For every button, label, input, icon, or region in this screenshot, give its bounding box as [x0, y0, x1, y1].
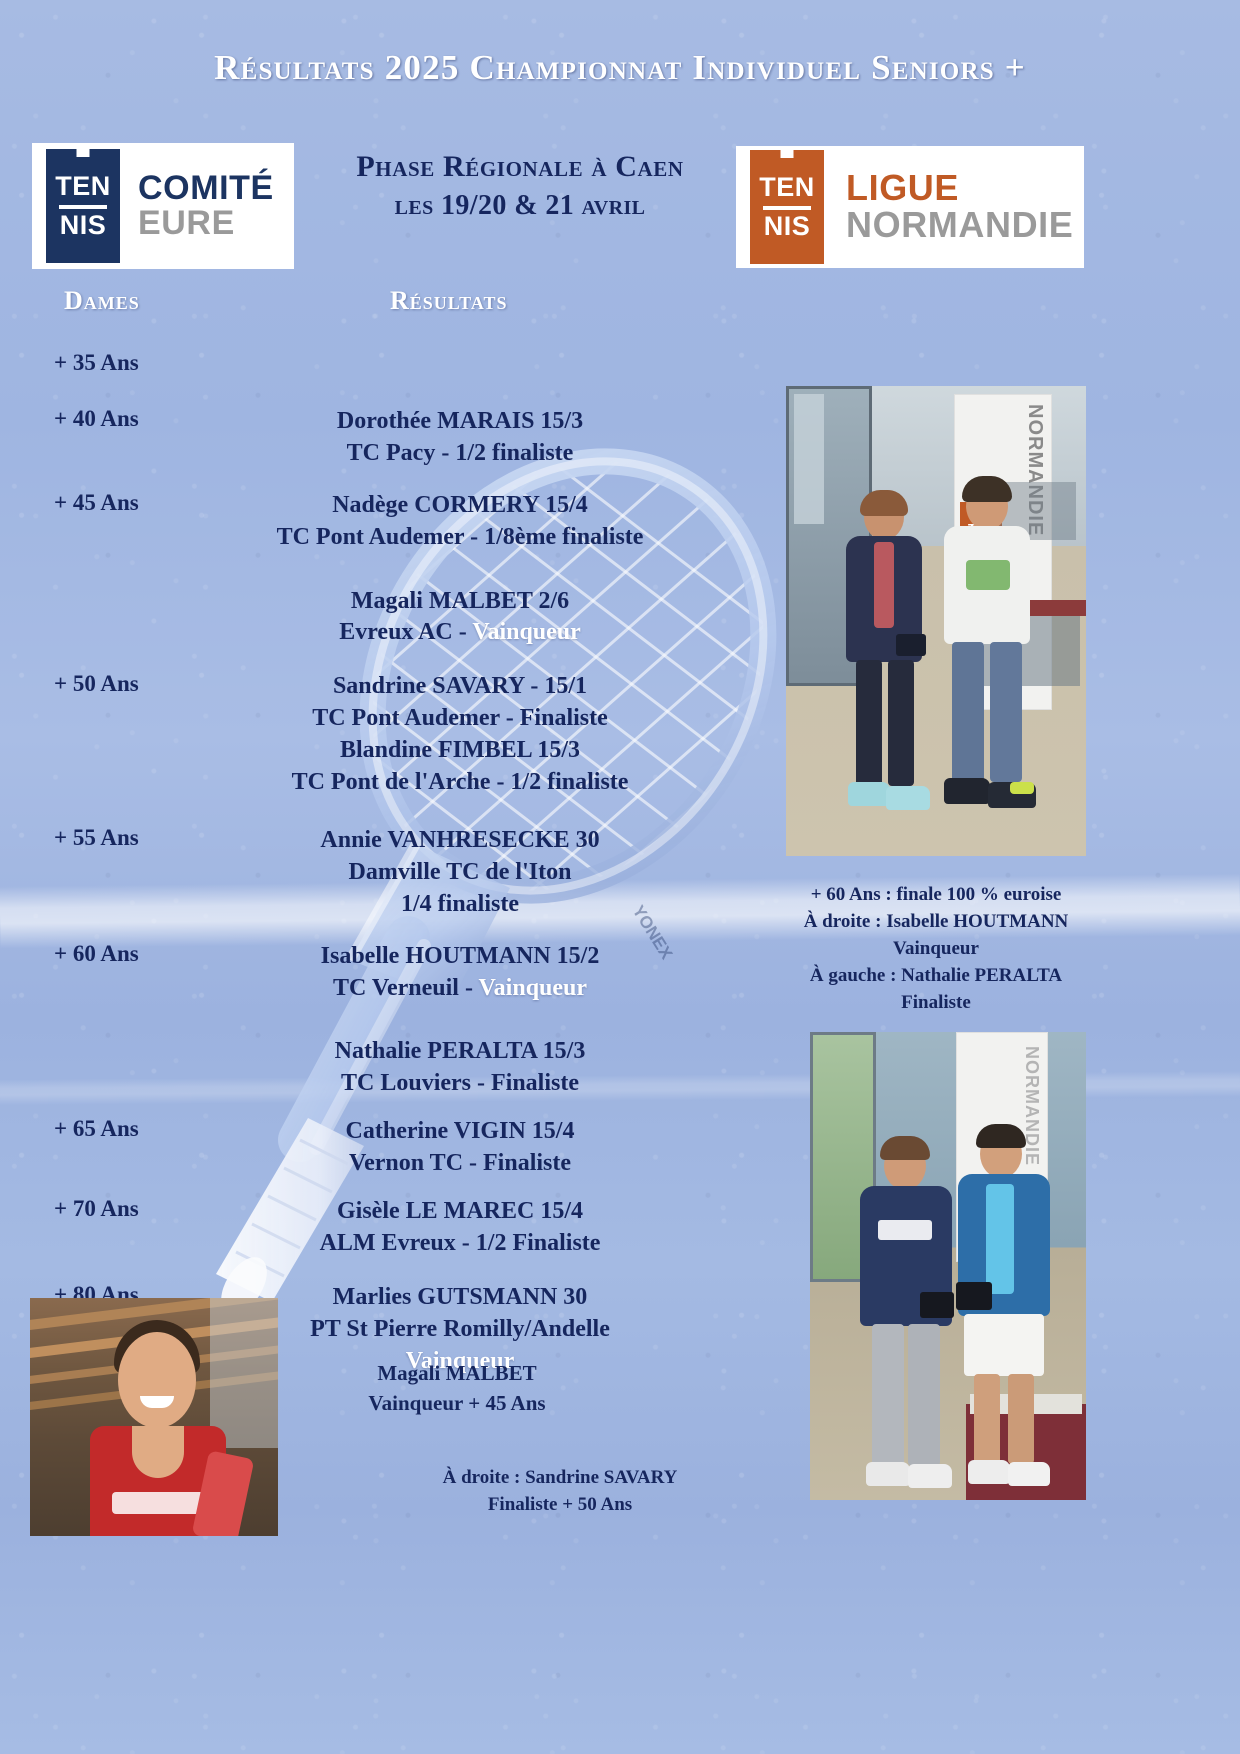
results-empty-line	[210, 350, 710, 382]
tennis-federation-mark-icon: TEN NIS	[750, 150, 824, 264]
photo-finale-50-ans: NORMANDIE	[810, 1032, 1086, 1500]
results-age-category: + 70 Ans	[54, 1196, 139, 1222]
results-entry-line: TC Pacy - 1/2 finaliste	[210, 438, 710, 470]
results-entry-line: Magali MALBET 2/6	[210, 586, 710, 618]
caption-line: + 60 Ans : finale 100 % euroise	[760, 882, 1112, 909]
logo-comite-line2: EURE	[138, 206, 274, 241]
results-entries: Isabelle HOUTMANN 15/2TC Verneuil - Vain…	[210, 941, 710, 1101]
poster-canvas: YONEX Résultats 2025 Championnat Individ…	[0, 0, 1240, 1754]
person-jeans-left	[952, 642, 984, 782]
results-entry-line: Vernon TC - Finaliste	[210, 1148, 710, 1180]
column-header-resultats: Résultats	[390, 286, 508, 316]
person-shoe-right	[908, 1464, 952, 1488]
photo-person-left	[854, 1142, 958, 1500]
results-entry-line: Isabelle HOUTMANN 15/2	[210, 941, 710, 973]
caption-line: Vainqueur + 45 Ans	[222, 1388, 692, 1418]
tennis-federation-mark-icon: TEN NIS	[46, 149, 120, 263]
person-shoe-left	[848, 782, 890, 806]
caption-line: Finaliste	[760, 990, 1112, 1017]
person-legs-right	[1008, 1374, 1034, 1464]
photo-person-left	[838, 494, 930, 834]
results-row: + 35 Ans	[0, 350, 760, 384]
results-age-category: + 55 Ans	[54, 825, 139, 851]
results-entry-line: TC Pont Audemer - Finaliste	[210, 703, 710, 735]
results-entries: Nadège CORMERY 15/4TC Pont Audemer - 1/8…	[210, 490, 710, 650]
logo-ligue-wordmark: LIGUE NORMANDIE	[846, 170, 1073, 243]
person-shoe-left	[968, 1460, 1010, 1484]
mark-rule	[763, 206, 811, 210]
results-age-category: + 35 Ans	[54, 350, 139, 376]
results-entry-line: TC Pont Audemer - 1/8ème finaliste	[210, 522, 710, 554]
results-spacer-line	[210, 1005, 710, 1037]
results-entries: Dorothée MARAIS 15/3TC Pacy - 1/2 finali…	[210, 406, 710, 470]
mark-top-text: TEN	[55, 174, 111, 200]
results-entry-line: PT St Pierre Romilly/Andelle	[210, 1314, 710, 1346]
person-trophy	[956, 1282, 992, 1310]
results-entry-line: Evreux AC - Vainqueur	[210, 617, 710, 649]
mark-top-text: TEN	[759, 175, 815, 201]
results-row: + 45 AnsNadège CORMERY 15/4TC Pont Audem…	[0, 490, 760, 650]
caption-sandrine-savary: À droite : Sandrine SAVARYFinaliste + 50…	[330, 1465, 790, 1519]
caption-line: À gauche : Nathalie PERALTA	[760, 963, 1112, 990]
results-row: + 70 AnsGisèle LE MAREC 15/4ALM Evreux -…	[0, 1196, 760, 1260]
column-header-dames: Dames	[64, 286, 140, 316]
results-entries	[210, 350, 710, 382]
person-trousers-left	[872, 1324, 904, 1466]
results-entry-line: Damville TC de l'Iton	[210, 857, 710, 889]
results-spacer-line	[210, 554, 710, 586]
caption-line: À droite : Isabelle HOUTMANN	[760, 909, 1112, 936]
photo-person-right	[936, 482, 1036, 838]
logo-ligue-normandie: TEN NIS LIGUE NORMANDIE	[736, 146, 1084, 268]
logo-comite-wordmark: COMITÉ EURE	[138, 171, 274, 240]
shoe-accent	[1010, 782, 1034, 794]
poster-title-bar: Résultats 2025 Championnat Individuel Se…	[0, 48, 1240, 88]
results-entry-line: Catherine VIGIN 15/4	[210, 1116, 710, 1148]
person-scarf	[874, 542, 894, 628]
mark-rule	[59, 205, 107, 209]
mark-notch	[77, 148, 90, 157]
results-list: + 35 Ans + 40 AnsDorothée MARAIS 15/3TC …	[0, 350, 760, 1378]
caption-final-60-ans: + 60 Ans : finale 100 % euroiseÀ droite …	[760, 882, 1112, 1017]
caption-line: Magali MALBET	[222, 1358, 692, 1388]
results-row: + 40 AnsDorothée MARAIS 15/3TC Pacy - 1/…	[0, 406, 760, 470]
person-trousers-right	[908, 1324, 940, 1466]
mark-bottom-text: NIS	[764, 214, 811, 240]
logo-comite-line1: COMITÉ	[138, 171, 274, 206]
page-title: Résultats 2025 Championnat Individuel Se…	[214, 48, 1026, 88]
person-legs-right	[888, 660, 914, 786]
results-entry-line: Gisèle LE MAREC 15/4	[210, 1196, 710, 1228]
caption-magali-malbet: Magali MALBETVainqueur + 45 Ans	[222, 1358, 692, 1419]
phase-heading-line1: Phase Régionale à Caen	[300, 148, 740, 186]
results-row: + 60 AnsIsabelle HOUTMANN 15/2TC Verneui…	[0, 941, 760, 1101]
results-entry-line: Nadège CORMERY 15/4	[210, 490, 710, 522]
caption-line: Vainqueur	[760, 936, 1112, 963]
results-entries: Sandrine SAVARY - 15/1TC Pont Audemer - …	[210, 671, 710, 799]
hoodie-logo	[878, 1220, 932, 1240]
winner-label: Vainqueur	[479, 975, 588, 1001]
logo-ligue-line1: LIGUE	[846, 170, 1073, 207]
caption-line: Finaliste + 50 Ans	[330, 1492, 790, 1519]
photo-content: NORMANDIE TEN NIS	[786, 386, 1086, 856]
results-entry-line: TC Verneuil - Vainqueur	[210, 973, 710, 1005]
results-entry-line: Marlies GUTSMANN 30	[210, 1282, 710, 1314]
phase-heading: Phase Régionale à Caen les 19/20 & 21 av…	[300, 148, 740, 224]
person-neck	[132, 1426, 184, 1478]
mark-notch	[781, 149, 794, 158]
photo-content: NORMANDIE	[810, 1032, 1086, 1500]
results-entry-line: TC Pont de l'Arche - 1/2 finaliste	[210, 767, 710, 799]
results-entry-line: Blandine FIMBEL 15/3	[210, 735, 710, 767]
logo-comite-eure: TEN NIS COMITÉ EURE	[32, 143, 294, 269]
results-entry-line: Nathalie PERALTA 15/3	[210, 1036, 710, 1068]
person-shoe-right	[886, 786, 930, 810]
person-trophy	[896, 634, 926, 656]
person-hair	[962, 476, 1012, 502]
results-entry-line: Annie VANHRESECKE 30	[210, 825, 710, 857]
results-entry-line: TC Louviers - Finaliste	[210, 1068, 710, 1100]
person-shoe-left	[944, 778, 990, 804]
winner-label: Vainqueur	[472, 619, 581, 645]
results-entry-line: 1/4 finaliste	[210, 889, 710, 921]
results-row: + 55 AnsAnnie VANHRESECKE 30Damville TC …	[0, 825, 760, 921]
photo-person	[88, 1326, 228, 1536]
tshirt-graphic	[966, 560, 1010, 590]
caption-line: À droite : Sandrine SAVARY	[330, 1465, 790, 1492]
photo-person-right	[952, 1130, 1056, 1500]
person-shoe-left	[866, 1462, 910, 1486]
person-legs-left	[974, 1374, 1000, 1464]
results-row: + 65 AnsCatherine VIGIN 15/4Vernon TC - …	[0, 1116, 760, 1180]
jacket-inner	[986, 1184, 1014, 1294]
results-entry-line: Dorothée MARAIS 15/3	[210, 406, 710, 438]
phase-heading-line2: les 19/20 & 21 avril	[300, 188, 740, 224]
person-jeans-right	[990, 642, 1022, 782]
person-trophy	[920, 1292, 954, 1318]
results-age-category: + 40 Ans	[54, 406, 139, 432]
results-entry-line: ALM Evreux - 1/2 Finaliste	[210, 1228, 710, 1260]
photo-window-pane	[794, 394, 824, 524]
results-age-category: + 50 Ans	[54, 671, 139, 697]
mark-bottom-text: NIS	[60, 213, 107, 239]
results-age-category: + 65 Ans	[54, 1116, 139, 1142]
results-age-category: + 60 Ans	[54, 941, 139, 967]
person-hair	[880, 1136, 930, 1160]
person-legs-left	[856, 660, 882, 786]
person-hair	[976, 1124, 1026, 1148]
person-hair	[860, 490, 908, 516]
results-age-category: + 45 Ans	[54, 490, 139, 516]
results-row: + 50 AnsSandrine SAVARY - 15/1TC Pont Au…	[0, 671, 760, 799]
shirt-text	[112, 1492, 204, 1514]
person-shoe-right	[1008, 1462, 1050, 1486]
results-entries: Annie VANHRESECKE 30Damville TC de l'Ito…	[210, 825, 710, 921]
results-entries: Gisèle LE MAREC 15/4ALM Evreux - 1/2 Fin…	[210, 1196, 710, 1260]
person-head	[118, 1332, 196, 1428]
photo-final-60-ans: NORMANDIE TEN NIS	[786, 386, 1086, 856]
results-entries: Catherine VIGIN 15/4Vernon TC - Finalist…	[210, 1116, 710, 1180]
results-entry-line: Sandrine SAVARY - 15/1	[210, 671, 710, 703]
logo-ligue-line2: NORMANDIE	[846, 207, 1073, 244]
person-skirt	[964, 1314, 1044, 1376]
